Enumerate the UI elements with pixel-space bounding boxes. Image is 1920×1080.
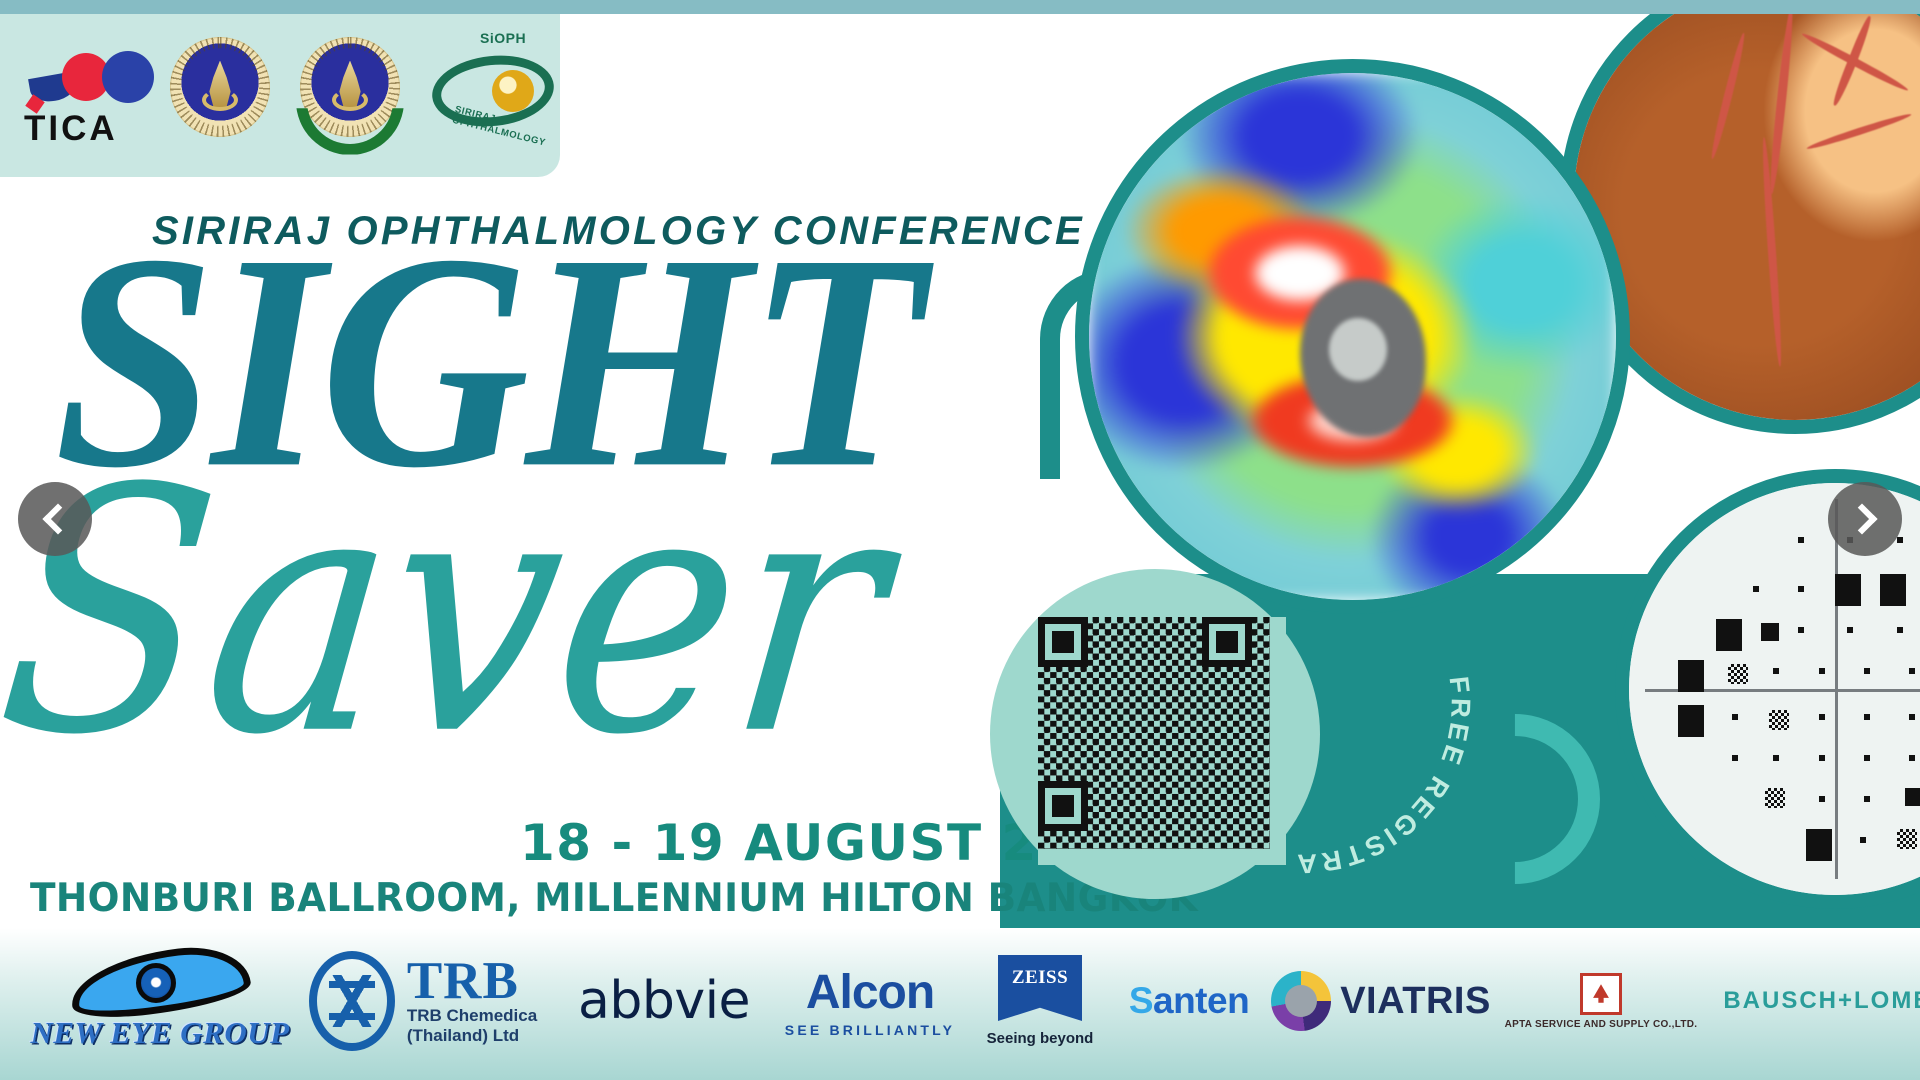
viatris-swirl-icon — [1271, 971, 1331, 1031]
sponsor-zeiss: ZEISS Seeing beyond — [972, 941, 1108, 1061]
vf-point — [1909, 668, 1915, 674]
page-title-script: Saver — [0, 479, 895, 748]
vf-speckled-block — [1769, 710, 1789, 730]
sponsor-tagline: SEE BRILLIANTLY — [785, 1022, 955, 1038]
trb-glyph-shape — [329, 975, 375, 1027]
vf-point — [1819, 796, 1825, 802]
vf-point — [1798, 586, 1804, 592]
vf-point — [1860, 837, 1866, 843]
sponsor-abbvie: abbvie — [560, 941, 768, 1061]
vf-partial-block — [1905, 788, 1920, 806]
sponsor-label: abbvie — [578, 971, 750, 1031]
vf-defect-block — [1678, 705, 1704, 737]
vf-point — [1847, 627, 1853, 633]
sponsor-label: Santen — [1129, 980, 1249, 1022]
sponsor-label: NEW EYE GROUP — [30, 1015, 289, 1051]
optic-cup-shape — [1329, 318, 1387, 381]
vf-point — [1798, 627, 1804, 633]
vf-point — [1753, 586, 1759, 592]
vf-speckled-block — [1765, 788, 1785, 808]
sponsor-alcon: Alcon SEE BRILLIANTLY — [774, 941, 966, 1061]
sioph-iris-icon — [492, 70, 534, 112]
vf-speckled-block — [1728, 664, 1748, 684]
carousel-slide: TICA SiOPH SIRIRAJ OPHTHALMOLOGY — [0, 0, 1920, 1080]
vf-point — [1819, 668, 1825, 674]
registration-qr-badge[interactable] — [990, 569, 1320, 899]
vf-point — [1798, 537, 1804, 543]
sponsor-label: TRB — [407, 956, 537, 1006]
sponsor-trb-chemedica: TRB TRB Chemedica (Thailand) Ltd — [292, 941, 554, 1061]
vf-point — [1897, 627, 1903, 633]
sponsor-logo-strip: NEW EYE GROUP TRB TRB Chemedica (Thailan… — [0, 928, 1920, 1080]
vf-point — [1732, 714, 1738, 720]
zeiss-badge-shape: ZEISS — [998, 955, 1082, 1021]
sponsor-sublabel-1: TRB Chemedica — [407, 1006, 537, 1026]
previous-slide-button[interactable] — [18, 482, 92, 556]
vf-point — [1864, 796, 1870, 802]
oct-heatmap-circle — [1075, 59, 1630, 614]
vf-point — [1773, 755, 1779, 761]
seal-motif-base — [332, 89, 368, 111]
vf-point — [1897, 537, 1903, 543]
sponsor-sublabel-2: (Thailand) Ltd — [407, 1026, 537, 1046]
conference-banner: TICA SiOPH SIRIRAJ OPHTHALMOLOGY — [0, 14, 1920, 1080]
apta-emblem-icon — [1580, 973, 1622, 1015]
tica-blue-circle — [102, 51, 154, 103]
sponsor-label: ZEISS — [1012, 967, 1068, 989]
vf-point — [1909, 755, 1915, 761]
chevron-left-icon — [42, 503, 73, 534]
sponsor-apta: APTA SERVICE AND SUPPLY CO.,LTD. — [1498, 941, 1704, 1061]
vf-defect-block — [1880, 574, 1906, 606]
qr-finder-pattern — [1202, 617, 1252, 667]
sponsor-bausch-lomb: BAUSCH+LOMB — [1710, 941, 1920, 1061]
vf-defect-block — [1716, 619, 1742, 651]
next-slide-button[interactable] — [1828, 482, 1902, 556]
vf-defect-block — [1835, 574, 1861, 606]
santen-initial: S — [1129, 980, 1153, 1021]
sponsor-new-eye-group: NEW EYE GROUP — [34, 941, 286, 1061]
seal-motif-base — [202, 89, 238, 111]
visual-field-vertical-axis — [1835, 499, 1838, 878]
top-accent-strip — [0, 0, 1920, 14]
sponsor-viatris: VIATRIS — [1270, 941, 1492, 1061]
eye-pupil-shape — [136, 963, 176, 1003]
vf-point — [1864, 755, 1870, 761]
event-venue: THONBURI BALLROOM, MILLENNIUM HILTON BAN… — [30, 876, 1198, 921]
vf-defect-block — [1678, 660, 1704, 692]
new-eye-group-eye-icon — [70, 951, 250, 1013]
qr-finder-pattern — [1038, 617, 1088, 667]
tica-wordmark: TICA — [24, 109, 118, 149]
qr-quiet-zone — [1270, 617, 1286, 849]
qr-finder-pattern — [1038, 781, 1088, 831]
qr-quiet-zone — [1038, 849, 1286, 865]
vf-partial-block — [1761, 623, 1779, 641]
royal-seal-logo-2 — [294, 33, 406, 157]
vf-point — [1819, 755, 1825, 761]
vf-point — [1909, 714, 1915, 720]
sponsor-santen: Santen — [1114, 941, 1264, 1061]
tica-logo: TICA — [18, 31, 146, 159]
sioph-wordmark: SiOPH — [480, 30, 526, 46]
santen-rest: anten — [1153, 980, 1249, 1021]
vf-point — [1864, 668, 1870, 674]
sponsor-tagline: Seeing beyond — [987, 1030, 1094, 1047]
sponsor-label: VIATRIS — [1340, 980, 1491, 1023]
vf-speckled-block — [1897, 829, 1917, 849]
sponsor-label: APTA SERVICE AND SUPPLY CO.,LTD. — [1505, 1019, 1698, 1030]
sioph-logo: SiOPH SIRIRAJ OPHTHALMOLOGY — [424, 30, 562, 160]
vf-point — [1773, 668, 1779, 674]
chevron-right-icon — [1846, 503, 1877, 534]
trb-monogram-icon — [309, 951, 395, 1051]
vf-point — [1819, 714, 1825, 720]
royal-seal-logo-1 — [164, 33, 276, 157]
sponsor-label: BAUSCH+LOMB — [1723, 987, 1920, 1015]
vf-point — [1732, 755, 1738, 761]
vf-point — [1864, 714, 1870, 720]
sponsor-label: Alcon — [806, 965, 934, 1020]
vf-defect-block — [1806, 829, 1832, 861]
organizer-logo-bar: TICA SiOPH SIRIRAJ OPHTHALMOLOGY — [0, 14, 560, 177]
